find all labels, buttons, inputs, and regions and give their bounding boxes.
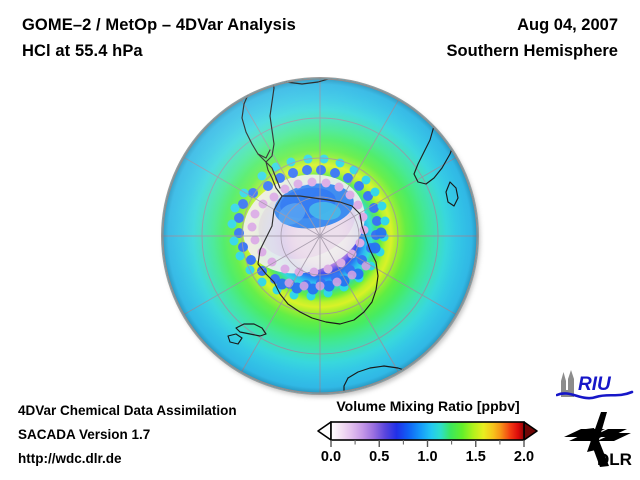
date-label: Aug 04, 2007 (517, 16, 618, 35)
footer-url[interactable]: http://wdc.dlr.de (18, 451, 122, 466)
colorbar-tick-label-1: 0.5 (369, 449, 389, 465)
colorbar-tick-label-0: 0.0 (321, 449, 341, 465)
colorbar-ticks (331, 440, 524, 447)
map-content (162, 78, 478, 394)
colorbar-tick-label-4: 2.0 (514, 449, 534, 465)
limb-highlight (162, 78, 478, 394)
globe-panel (160, 76, 482, 398)
dlr-wordmark: DLR (597, 450, 632, 469)
hemisphere-label: Southern Hemisphere (447, 42, 618, 61)
footer-version: SACADA Version 1.7 (18, 427, 150, 442)
species-subtitle: HCl at 55.4 hPa (22, 42, 143, 61)
colorbar-tick-label-3: 1.5 (466, 449, 486, 465)
colorbar-title: Volume Mixing Ratio [ppbv] (312, 398, 544, 414)
map-canvas (162, 78, 478, 394)
figure-root: GOME–2 / MetOp – 4DVar Analysis HCl at 5… (0, 0, 640, 480)
dlr-logo: DLR (561, 410, 635, 470)
colorbar-tick-label-2: 1.0 (417, 449, 437, 465)
colorbar-svg: 0.0 0.5 1.0 1.5 2.0 (312, 418, 544, 466)
footer-method: 4DVar Chemical Data Assimilation (18, 403, 237, 418)
polar-orthographic-map (162, 78, 478, 394)
riu-wordmark: RIU (578, 374, 612, 395)
colorbar-panel: Volume Mixing Ratio [ppbv] (312, 398, 544, 466)
riu-logo: RIU (556, 369, 634, 403)
colorbar-gradient (331, 422, 524, 440)
colorbar-over-arrow (524, 422, 537, 440)
page-title: GOME–2 / MetOp – 4DVar Analysis (22, 16, 296, 35)
colorbar-under-arrow (318, 422, 331, 440)
